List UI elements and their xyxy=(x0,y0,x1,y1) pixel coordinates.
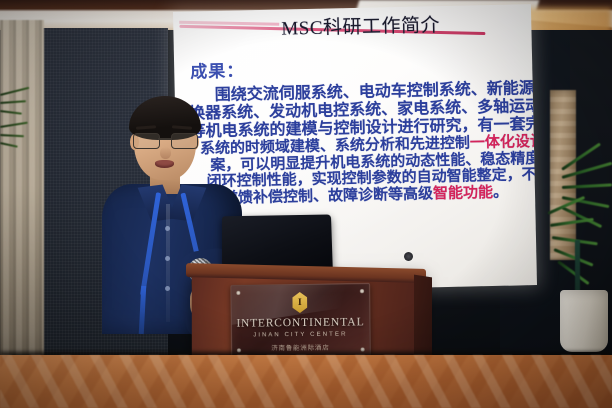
glasses-lens-right xyxy=(171,133,198,149)
hotel-location-cn: 济南鲁能洲际酒店 xyxy=(232,341,370,352)
foliage-left xyxy=(0,88,34,158)
carpet-floor xyxy=(0,355,612,408)
plaque-screw xyxy=(360,289,364,293)
conference-presentation-photo: MSC科研工作简介 成果： 围绕交流伺服系统、电动车控制系统、新能源电力电子变 … xyxy=(0,0,612,408)
slide-section-heading: 成果： xyxy=(190,56,245,82)
hotel-logo-letter: I xyxy=(298,297,302,308)
glasses-bridge xyxy=(158,138,171,140)
mouth xyxy=(155,160,174,168)
glasses-lens-left xyxy=(133,133,160,149)
glasses-icon xyxy=(131,133,199,148)
plant-pot xyxy=(560,290,608,352)
plaque-screw xyxy=(236,291,240,295)
shirt-button xyxy=(165,286,170,291)
hotel-brand-name: INTERCONTINENTAL xyxy=(232,316,370,329)
potted-palm-fronds xyxy=(528,150,612,310)
venue-plaque: I INTERCONTINENTAL JINAN CITY CENTER 济南鲁… xyxy=(230,283,370,358)
slide-title: MSC科研工作简介 xyxy=(281,10,440,40)
nose xyxy=(160,147,171,159)
shirt-button xyxy=(165,226,170,231)
hotel-location: JINAN CITY CENTER xyxy=(232,331,370,338)
window-curtain xyxy=(0,20,44,388)
shirt-button xyxy=(165,256,170,261)
shirt-placket xyxy=(166,204,170,322)
hotel-logo-icon: I xyxy=(292,292,307,313)
podium-mic-icon xyxy=(404,252,413,261)
palm-stem xyxy=(575,240,580,296)
